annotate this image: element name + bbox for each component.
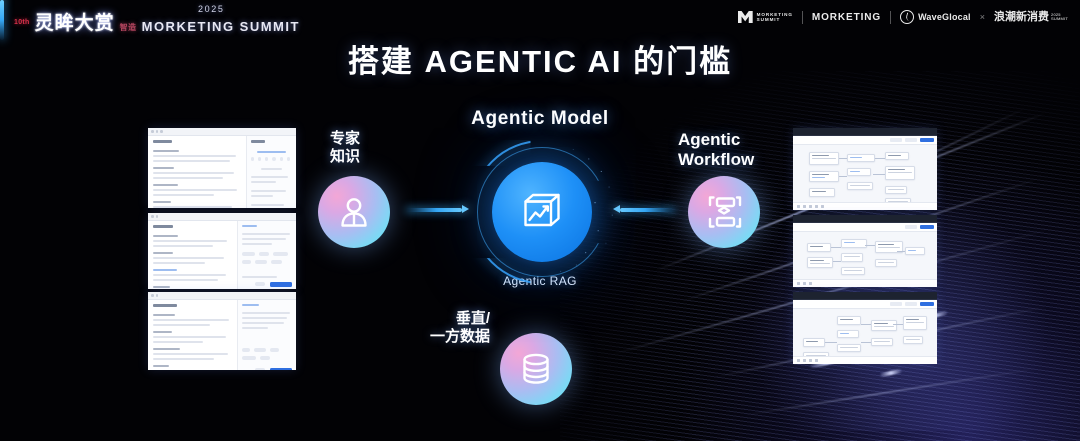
workflow-node[interactable]	[841, 239, 867, 248]
logo-partner-cn-label: 浪潮新消费	[994, 12, 1049, 23]
arrow-model-to-workflow	[620, 208, 676, 212]
workflow-topbar	[793, 300, 937, 309]
workflow-node[interactable]	[885, 152, 909, 160]
toolbar-icon[interactable]	[815, 359, 818, 362]
document-pane	[148, 300, 237, 370]
brand-name-cn: 灵眸大赏	[35, 8, 115, 35]
assistant-pane	[237, 300, 296, 370]
logo-waveglocal-label: WaveGlocal	[918, 12, 971, 22]
page-title: 搭建 AGENTIC AI 的门槛	[0, 36, 1080, 81]
workflow-connector	[825, 342, 837, 343]
workflow-connector	[893, 324, 903, 325]
assistant-pane	[237, 221, 296, 289]
workflow-connector	[833, 261, 841, 262]
workflow-canvas	[793, 136, 937, 210]
toolbar-pill[interactable]	[905, 302, 917, 306]
screenshot-body	[148, 136, 296, 208]
workflow-connector	[865, 245, 875, 246]
toolbar-dot-icon	[151, 130, 154, 133]
partner-logo-bar: MORKETING SUMMIT MORKETING WaveGlocal × …	[738, 10, 1068, 24]
morketing-summit-mark-icon	[738, 11, 753, 23]
workflow-topbar	[793, 223, 937, 232]
agentic-workflow-label-line1: Agentic	[678, 130, 754, 150]
toolbar-icon[interactable]	[809, 282, 812, 285]
screenshot-toolbar	[148, 128, 296, 136]
workflow-node[interactable]	[807, 257, 833, 268]
workflow-canvas	[793, 300, 937, 364]
workflow-node[interactable]	[905, 247, 925, 255]
screenshot-toolbar	[793, 215, 937, 223]
logo-morketing: MORKETING	[812, 12, 881, 23]
toolbar-icon[interactable]	[821, 205, 824, 208]
toolbar-icon[interactable]	[809, 359, 812, 362]
workflow-node[interactable]	[807, 243, 831, 252]
toolbar-dot-icon	[151, 294, 154, 297]
workflow-node[interactable]	[885, 166, 915, 180]
expert-knowledge-label: 专家 知识	[330, 130, 360, 165]
vertical-data-label-line1: 垂直/	[416, 310, 490, 328]
logo-ms-line2: SUMMIT	[757, 17, 793, 22]
screenshot-toolbar	[793, 292, 937, 300]
toolbar-icon[interactable]	[815, 205, 818, 208]
workflow-node[interactable]	[875, 259, 897, 267]
toolbar-icon[interactable]	[797, 359, 800, 362]
workflow-node[interactable]	[809, 152, 839, 165]
toolbar-pill[interactable]	[905, 138, 917, 142]
agentic-workflow-label: Agentic Workflow	[678, 130, 754, 171]
expert-knowledge-label-line2: 知识	[330, 148, 360, 166]
workflow-topbar	[793, 136, 937, 145]
workflow-node[interactable]	[847, 154, 875, 162]
toolbar-pill[interactable]	[890, 302, 902, 306]
workflow-connector	[897, 251, 905, 252]
screenshot-toolbar	[148, 213, 296, 221]
primary-action-pill[interactable]	[920, 302, 934, 306]
toolbar-dot-icon	[156, 294, 159, 297]
workflow-connector	[873, 174, 885, 175]
right-screenshot-1[interactable]	[793, 128, 937, 210]
node-agentic-model[interactable]	[492, 162, 592, 262]
screenshot-body	[148, 300, 296, 370]
toolbar-pill[interactable]	[905, 225, 917, 229]
logo-partner-cn: 浪潮新消费 2025 SUMMIT	[994, 12, 1068, 23]
logo-divider	[802, 11, 803, 24]
workflow-bottombar	[793, 279, 937, 287]
logo-partner-tiny2: SUMMIT	[1051, 17, 1068, 21]
workflow-connector	[839, 176, 847, 177]
workflow-node[interactable]	[837, 316, 861, 325]
workflow-bottombar	[793, 202, 937, 210]
workflow-node[interactable]	[871, 320, 897, 331]
cube-chart-icon	[517, 187, 567, 237]
workflow-node[interactable]	[847, 168, 871, 176]
workflow-connector	[875, 158, 885, 159]
workflow-node[interactable]	[837, 344, 861, 352]
workflow-node[interactable]	[809, 171, 839, 182]
logo-waveglocal: WaveGlocal	[900, 10, 971, 24]
brand-edition-label: 10th	[14, 19, 30, 26]
workflow-node[interactable]	[885, 186, 907, 194]
screenshot-toolbar	[793, 128, 937, 136]
right-screenshot-2[interactable]	[793, 215, 937, 287]
toolbar-icon[interactable]	[803, 205, 806, 208]
workflow-node[interactable]	[803, 338, 825, 347]
agentic-workflow-label-line2: Workflow	[678, 150, 754, 170]
agentic-model-label: Agentic Model	[0, 108, 1080, 130]
person-icon	[335, 193, 373, 231]
toolbar-pill[interactable]	[890, 138, 902, 142]
flowchart-icon	[704, 192, 744, 232]
workflow-connector	[831, 247, 841, 248]
workflow-node[interactable]	[841, 253, 863, 262]
primary-action-pill[interactable]	[920, 138, 934, 142]
slide-header: 10th 灵眸大赏 智造 MORKETING SUMMIT 2025 MORKE…	[0, 0, 1080, 40]
brand-year-label: 2025	[198, 4, 224, 14]
toolbar-dot-icon	[160, 130, 163, 133]
arrow-expert-to-model	[406, 208, 462, 212]
document-pane	[148, 221, 237, 289]
screenshot-body	[148, 221, 296, 289]
workflow-node[interactable]	[837, 330, 859, 338]
left-screenshot-3[interactable]	[148, 292, 296, 370]
workflow-node[interactable]	[871, 338, 893, 346]
logo-morketing-summit: MORKETING SUMMIT	[738, 11, 793, 23]
workflow-canvas	[793, 223, 937, 287]
workflow-node[interactable]	[847, 182, 873, 190]
brand-logo-left: 10th 灵眸大赏 智造 MORKETING SUMMIT	[14, 8, 300, 35]
brand-name-en: MORKETING SUMMIT	[142, 19, 300, 34]
toolbar-dot-icon	[156, 130, 159, 133]
workflow-node[interactable]	[841, 267, 865, 275]
toolbar-dot-icon	[151, 215, 154, 218]
node-vertical-data[interactable]	[500, 333, 572, 405]
screenshot-toolbar	[148, 292, 296, 300]
document-pane	[148, 136, 246, 208]
logo-divider	[890, 11, 891, 24]
toolbar-dot-icon	[156, 215, 159, 218]
workflow-connector	[861, 324, 871, 325]
workflow-connector	[839, 158, 847, 159]
left-screenshot-2[interactable]	[148, 213, 296, 289]
primary-action-pill[interactable]	[920, 225, 934, 229]
workflow-bottombar	[793, 356, 937, 364]
assistant-pane	[246, 136, 296, 208]
left-screenshot-1[interactable]	[148, 128, 296, 208]
light-dash	[880, 369, 902, 377]
vertical-data-label-line2: 一方数据	[416, 328, 490, 346]
right-screenshot-3[interactable]	[793, 292, 937, 364]
database-icon	[516, 349, 556, 389]
toolbar-icon[interactable]	[809, 205, 812, 208]
workflow-node[interactable]	[903, 336, 923, 344]
toolbar-icon[interactable]	[803, 282, 806, 285]
node-expert-knowledge[interactable]	[318, 176, 390, 248]
cross-icon: ×	[980, 12, 985, 22]
toolbar-icon[interactable]	[797, 205, 800, 208]
vertical-data-label: 垂直/ 一方数据	[416, 310, 490, 345]
workflow-connector	[861, 342, 871, 343]
workflow-node[interactable]	[903, 316, 927, 330]
expert-knowledge-label-line1: 专家	[330, 130, 360, 148]
waveglocal-mark-icon	[900, 10, 914, 24]
workflow-node[interactable]	[809, 188, 835, 197]
toolbar-icon[interactable]	[803, 359, 806, 362]
node-agentic-workflow[interactable]	[688, 176, 760, 248]
toolbar-icon[interactable]	[797, 282, 800, 285]
light-streak	[742, 368, 1039, 417]
brand-name-cn-sub: 智造	[120, 22, 137, 33]
presentation-slide: 10th 灵眸大赏 智造 MORKETING SUMMIT 2025 MORKE…	[0, 0, 1080, 441]
